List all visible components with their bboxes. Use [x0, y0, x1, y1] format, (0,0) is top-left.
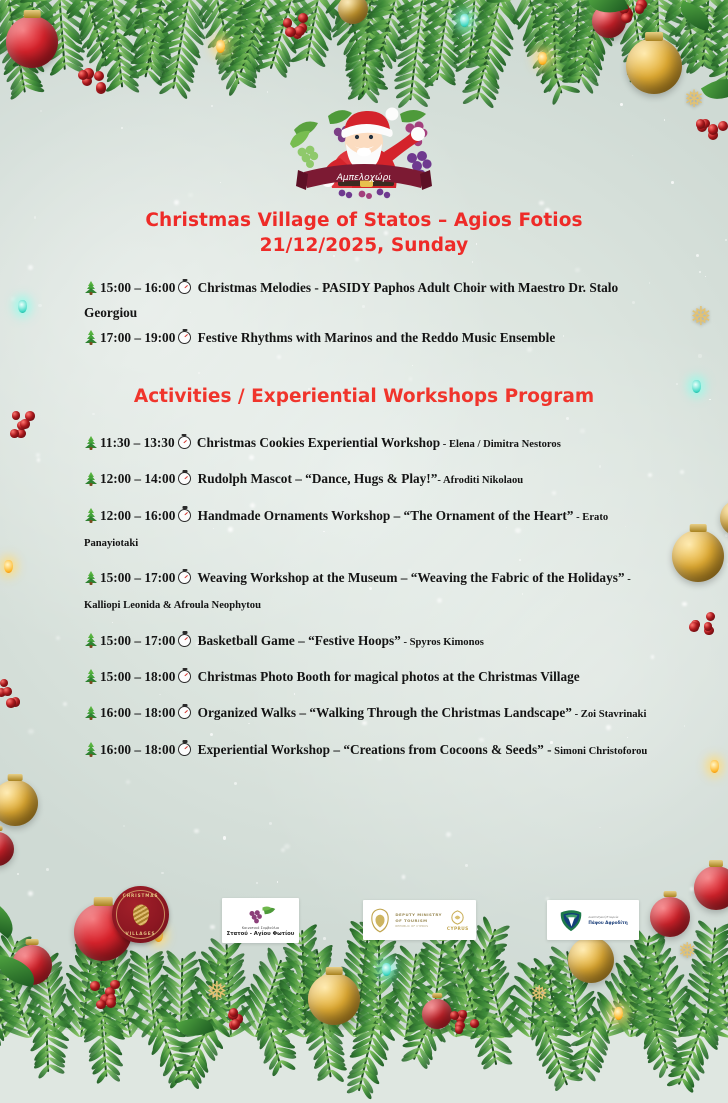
poster-title-line2: 21/12/2025, Sunday	[0, 233, 728, 258]
event-entry: 11:30 – 13:30 Christmas Cookies Experien…	[84, 430, 652, 456]
event-host: - Zoi Stavrinaki	[572, 709, 646, 720]
event-entry: 16:00 – 18:00 Experiential Workshop – “C…	[84, 737, 652, 763]
event-title: Weaving Workshop at the Museum – “Weavin…	[194, 570, 624, 585]
christmas-tree-icon	[84, 435, 97, 450]
seal-top-text: CHRISTMAS	[112, 893, 169, 898]
event-entry: 15:00 – 18:00 Christmas Photo Booth for …	[84, 664, 652, 690]
poster-title-line1: Christmas Village of Statos – Agios Foti…	[145, 210, 582, 231]
event-title: Christmas Photo Booth for magical photos…	[194, 669, 579, 684]
music-events-list: 15:00 – 16:00 Christmas Melodies - PASID…	[84, 276, 652, 351]
stopwatch-icon	[178, 436, 191, 449]
event-entry: 12:00 – 14:00 Rudolph Mascot – “Dance, H…	[84, 466, 652, 492]
tourism-line2: OF TOURISM	[395, 918, 442, 923]
stopwatch-icon	[178, 743, 191, 756]
christmas-tree-icon	[84, 330, 97, 345]
event-time: 11:30 – 13:30	[100, 435, 175, 450]
event-host: - Spyros Kimonos	[401, 637, 484, 648]
event-entry: 17:00 – 19:00 Festive Rhythms with Marin…	[84, 326, 652, 351]
event-time: 16:00 – 18:00	[100, 705, 175, 720]
cyprus-brand-text: CYPRUS	[447, 927, 469, 932]
development-line2: Πάφου Αφροδίτη	[588, 920, 627, 925]
stopwatch-icon	[178, 571, 191, 584]
event-entry: 12:00 – 16:00 Handmade Ornaments Worksho…	[84, 503, 652, 555]
event-title: Handmade Ornaments Workshop – “The Ornam…	[194, 508, 573, 523]
event-time: 15:00 – 16:00	[100, 280, 175, 295]
event-time: 17:00 – 19:00	[100, 330, 175, 345]
stopwatch-icon	[178, 670, 191, 683]
christmas-villages-seal: CHRISTMAS VILLAGES	[112, 886, 169, 943]
event-host: Simoni Christoforou	[552, 746, 648, 757]
section-heading-activities: Activities / Experiential Workshops Prog…	[0, 386, 728, 407]
event-title: Organized Walks – “Walking Through the C…	[194, 705, 572, 720]
christmas-tree-icon	[84, 669, 97, 684]
activities-list: 11:30 – 13:30 Christmas Cookies Experien…	[84, 430, 652, 773]
christmas-tree-icon	[84, 633, 97, 648]
event-entry: 15:00 – 16:00 Christmas Melodies - PASID…	[84, 276, 652, 326]
event-entry: 16:00 – 18:00 Organized Walks – “Walking…	[84, 700, 652, 726]
community-logo-line2: Στατού - Αγίου Φωτίου	[227, 931, 295, 937]
tourism-text-block: DEPUTY MINISTRY OF TOURISM REPUBLIC OF C…	[395, 912, 442, 928]
event-title: Rudolph Mascot – “Dance, Hugs & Play!”	[194, 471, 437, 486]
cyprus-brand-mark: CYPRUS	[447, 909, 469, 932]
santa-logo-artwork: Αμπελοχώρι	[280, 96, 448, 200]
development-company-icon	[558, 907, 584, 933]
event-time: 15:00 – 18:00	[100, 669, 175, 684]
event-title: Festive Rhythms with Marinos and the Red…	[194, 330, 555, 345]
poster-title: Christmas Village of Statos – Agios Foti…	[0, 208, 728, 258]
stopwatch-icon	[178, 472, 191, 485]
cyprus-swirl-icon	[449, 909, 466, 926]
event-time: 12:00 – 14:00	[100, 471, 175, 486]
stopwatch-icon	[178, 331, 191, 344]
deputy-ministry-tourism-logo: DEPUTY MINISTRY OF TOURISM REPUBLIC OF C…	[363, 900, 476, 940]
tourism-line3: REPUBLIC OF CYPRUS	[395, 924, 442, 928]
event-title: Basketball Game – “Festive Hoops”	[194, 633, 400, 648]
cyprus-coat-of-arms-icon	[370, 908, 390, 933]
development-text-block: Αναπτυξιακή Εταιρεία Πάφου Αφροδίτη	[588, 915, 627, 925]
christmas-tree-icon	[84, 471, 97, 486]
event-time: 15:00 – 17:00	[100, 633, 175, 648]
christmas-tree-icon	[84, 705, 97, 720]
grapes-icon	[246, 905, 276, 925]
event-time: 16:00 – 18:00	[100, 742, 175, 757]
community-council-logo: Κοινοτικό Συμβούλιο Στατού - Αγίου Φωτίο…	[222, 898, 299, 943]
event-entry: 15:00 – 17:00 Weaving Workshop at the Mu…	[84, 565, 652, 617]
christmas-tree-icon	[84, 570, 97, 585]
event-time: 12:00 – 16:00	[100, 508, 175, 523]
event-host: - Elena / Dimitra Nestoros	[440, 439, 561, 450]
stopwatch-icon	[178, 634, 191, 647]
event-title: Christmas Cookies Experiential Workshop	[194, 435, 441, 450]
tourism-line1: DEPUTY MINISTRY	[395, 912, 442, 917]
stopwatch-icon	[178, 281, 191, 294]
stopwatch-icon	[178, 706, 191, 719]
seal-bottom-text: VILLAGES	[112, 931, 169, 936]
development-company-logo: Αναπτυξιακή Εταιρεία Πάφου Αφροδίτη	[547, 900, 639, 940]
event-time: 15:00 – 17:00	[100, 570, 175, 585]
event-host: - Afroditi Nikolaou	[437, 475, 523, 486]
event-title: Experiential Workshop – “Creations from …	[194, 742, 551, 757]
svg-text:Αμπελοχώρι: Αμπελοχώρι	[336, 172, 392, 183]
christmas-tree-icon	[84, 508, 97, 523]
stopwatch-icon	[178, 509, 191, 522]
event-entry: 15:00 – 17:00 Basketball Game – “Festive…	[84, 628, 652, 654]
christmas-tree-icon	[84, 742, 97, 757]
ampelochori-santa-logo: Αμπελοχώρι	[280, 96, 448, 200]
development-line1: Αναπτυξιακή Εταιρεία	[588, 915, 627, 919]
community-logo-line1: Κοινοτικό Συμβούλιο	[242, 926, 279, 930]
christmas-tree-icon	[84, 280, 97, 295]
